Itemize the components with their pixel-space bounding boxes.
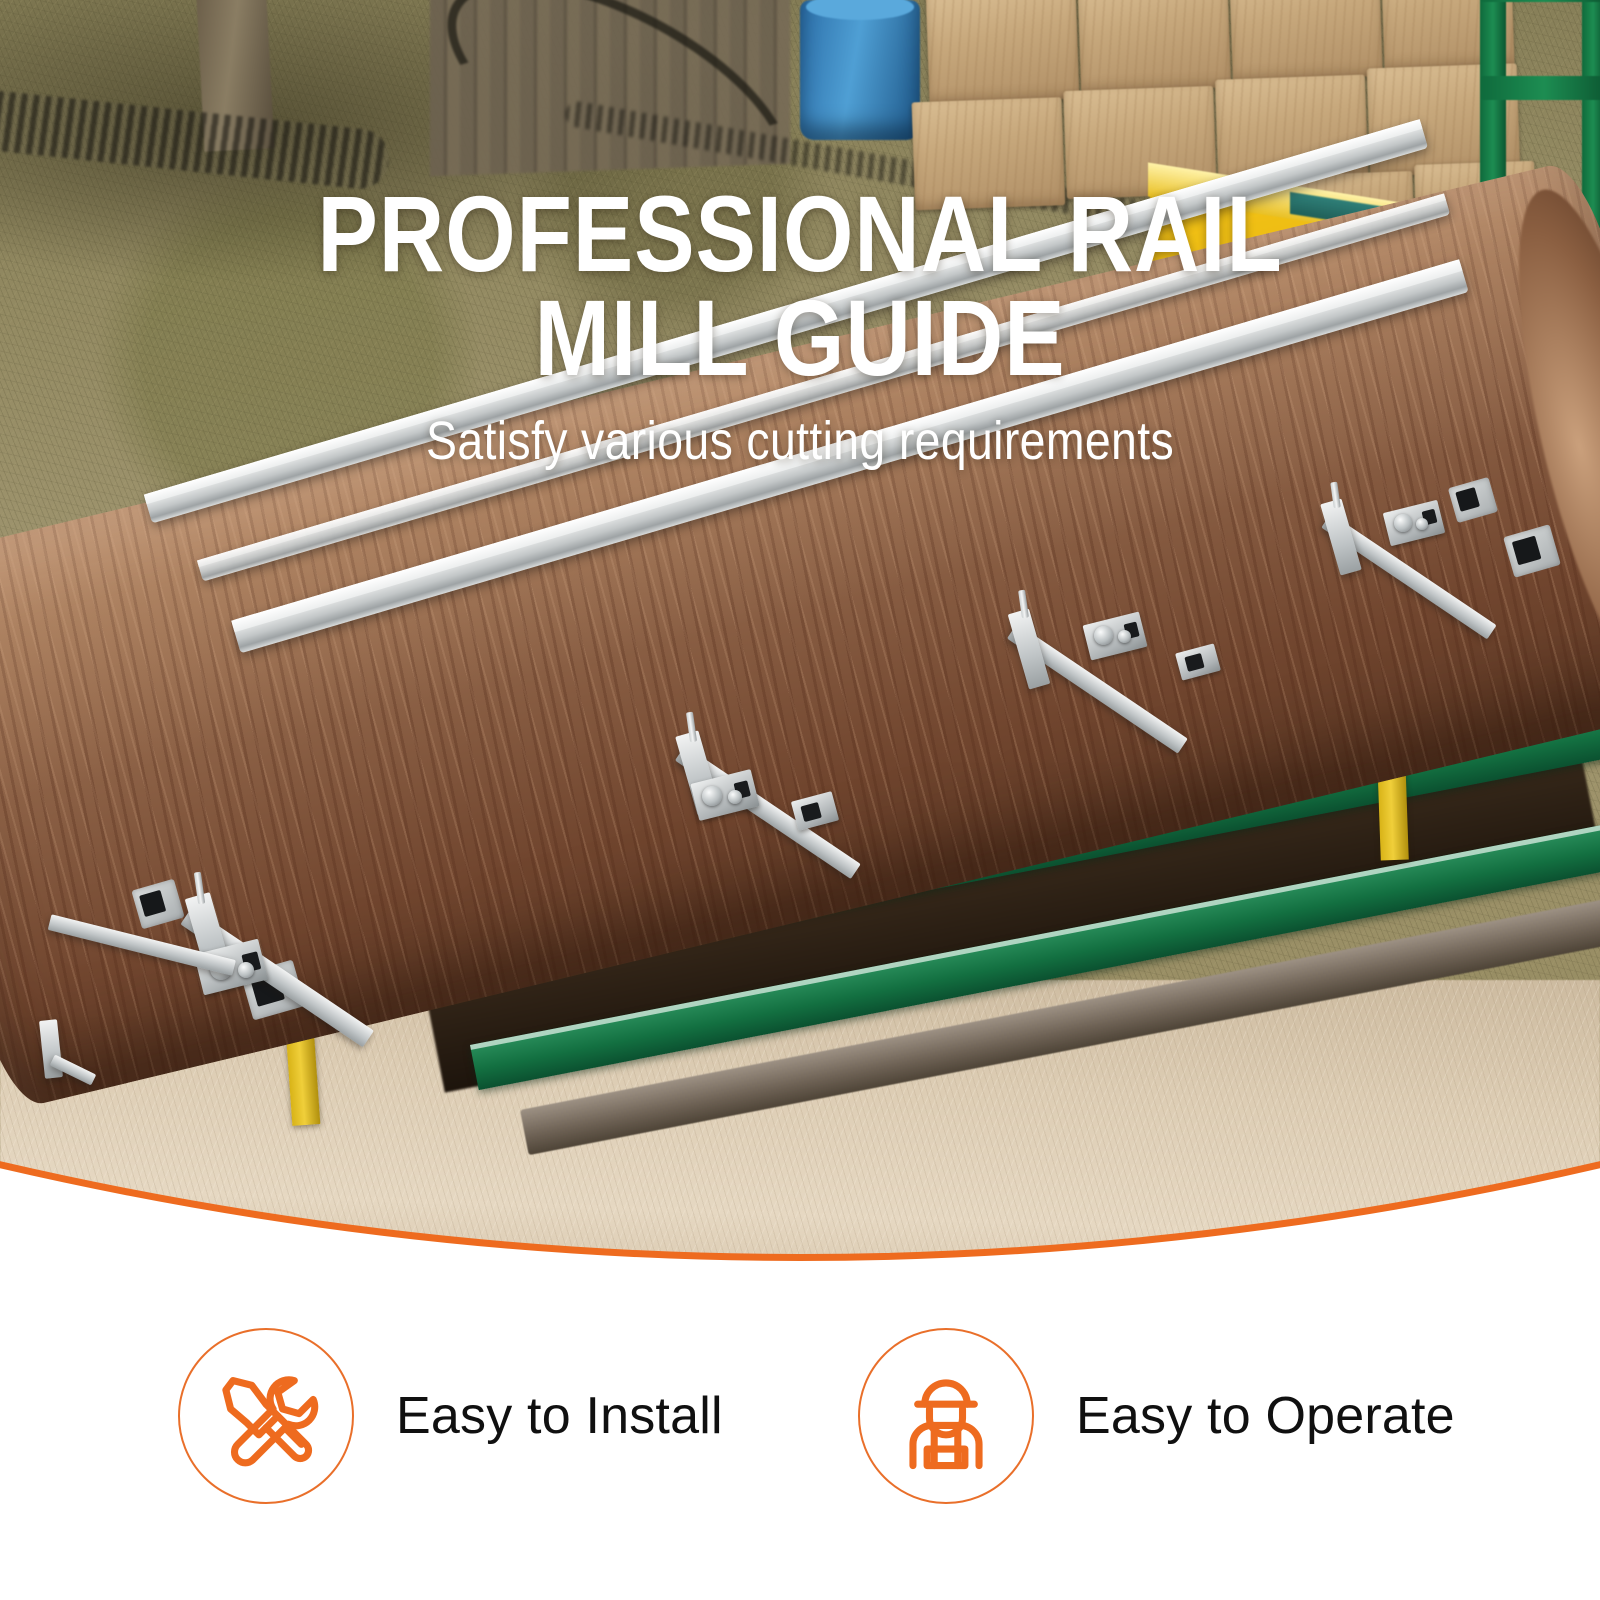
feature-easy-to-operate: Easy to Operate <box>858 1328 1455 1504</box>
feature-label: Easy to Operate <box>1076 1386 1455 1446</box>
feature-icon-circle <box>858 1328 1034 1504</box>
clamp-3 <box>1083 612 1148 661</box>
bolt-2b <box>728 790 742 804</box>
bolt-4b <box>1416 518 1428 530</box>
rail-cap-lower-right <box>1503 524 1561 578</box>
page-title: PROFESSIONAL RAIL MILL GUIDE <box>128 182 1472 390</box>
slider-block-2 <box>791 791 839 831</box>
product-banner: PROFESSIONAL RAIL MILL GUIDE Satisfy var… <box>0 0 1600 1600</box>
wrench-screwdriver-icon <box>207 1357 325 1475</box>
rail-cap-upper-left <box>131 879 184 930</box>
page-subtitle: Satisfy various cutting requirements <box>112 412 1488 470</box>
bolt-2a <box>702 786 722 806</box>
feature-label: Easy to Install <box>396 1386 723 1446</box>
bolt-4a <box>1394 514 1412 532</box>
clamp-4 <box>1383 500 1446 547</box>
hardhat-worker-icon <box>887 1357 1005 1475</box>
bolt-3b <box>1118 630 1131 643</box>
feature-footer: Easy to Install <box>0 1290 1600 1600</box>
slider-block-3 <box>1175 643 1221 680</box>
rail-cap-upper-right <box>1448 477 1498 523</box>
feature-icon-circle <box>178 1328 354 1504</box>
feature-easy-to-install: Easy to Install <box>178 1328 723 1504</box>
hero-photo: PROFESSIONAL RAIL MILL GUIDE Satisfy var… <box>0 0 1600 1290</box>
bolt-1b <box>238 962 254 978</box>
bolt-3a <box>1094 626 1113 645</box>
